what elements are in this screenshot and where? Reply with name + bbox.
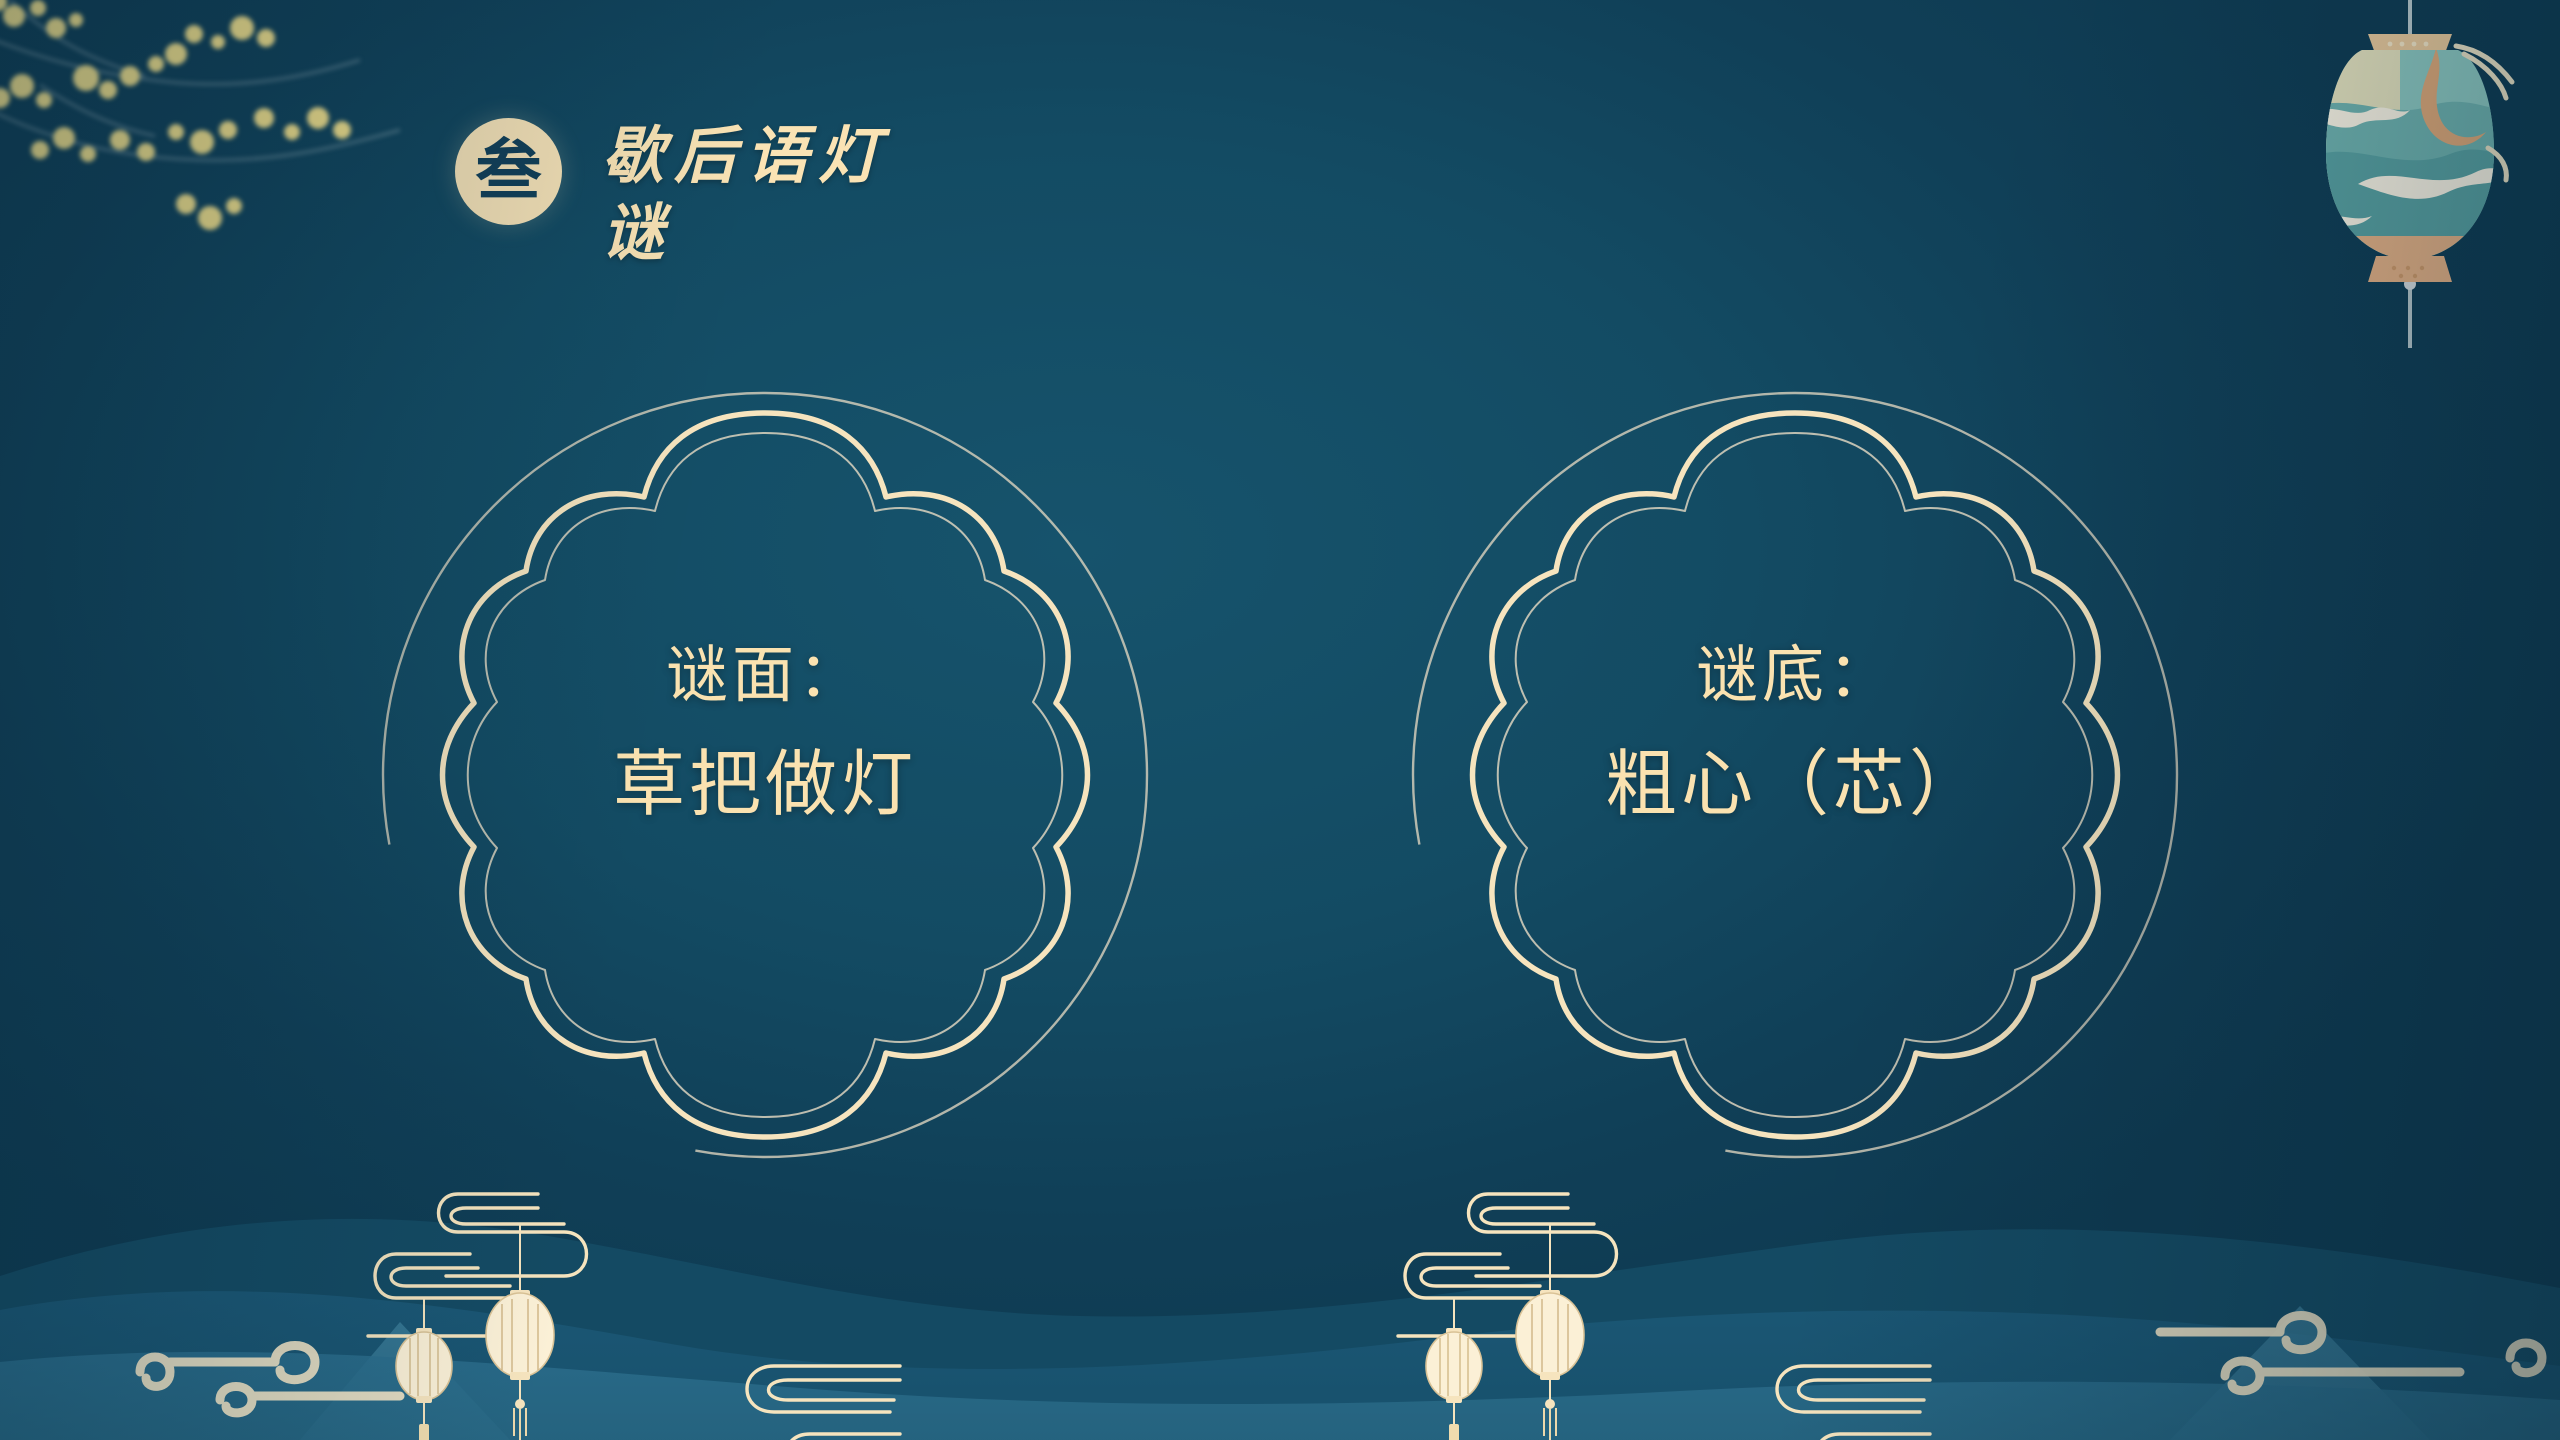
cloud-scroll-icon xyxy=(714,1350,904,1440)
slide-canvas: 叁 歇后语灯 谜 xyxy=(0,0,2560,1440)
cloud-scroll-lantern-cluster-icon xyxy=(1380,1180,1740,1440)
section-number-badge: 叁 xyxy=(455,118,562,225)
scalloped-cloud-frame-icon xyxy=(1380,375,2210,1175)
section-number-label: 叁 xyxy=(476,137,542,203)
riddle-question-panel[interactable]: 谜面： 草把做灯 xyxy=(350,375,1180,1175)
scalloped-cloud-frame-icon xyxy=(350,375,1180,1175)
section-title-block: 叁 歇后语灯 谜 xyxy=(455,118,1002,272)
cloud-scroll-icon xyxy=(1744,1350,1934,1440)
page-title-line2: 谜 xyxy=(602,195,1002,272)
hanging-lantern-icon xyxy=(486,1224,554,1440)
hanging-lantern-icon xyxy=(396,1298,452,1440)
cloud-scroll-lantern-cluster-icon xyxy=(350,1180,710,1440)
page-title-line1: 歇后语灯 xyxy=(602,118,1002,195)
hanging-lantern-icon xyxy=(1516,1224,1584,1440)
page-title: 歇后语灯 谜 xyxy=(602,118,1002,272)
hanging-lantern-icon xyxy=(1426,1298,1482,1440)
riddle-answer-panel[interactable]: 谜底： 粗心（芯） xyxy=(1380,375,2210,1175)
